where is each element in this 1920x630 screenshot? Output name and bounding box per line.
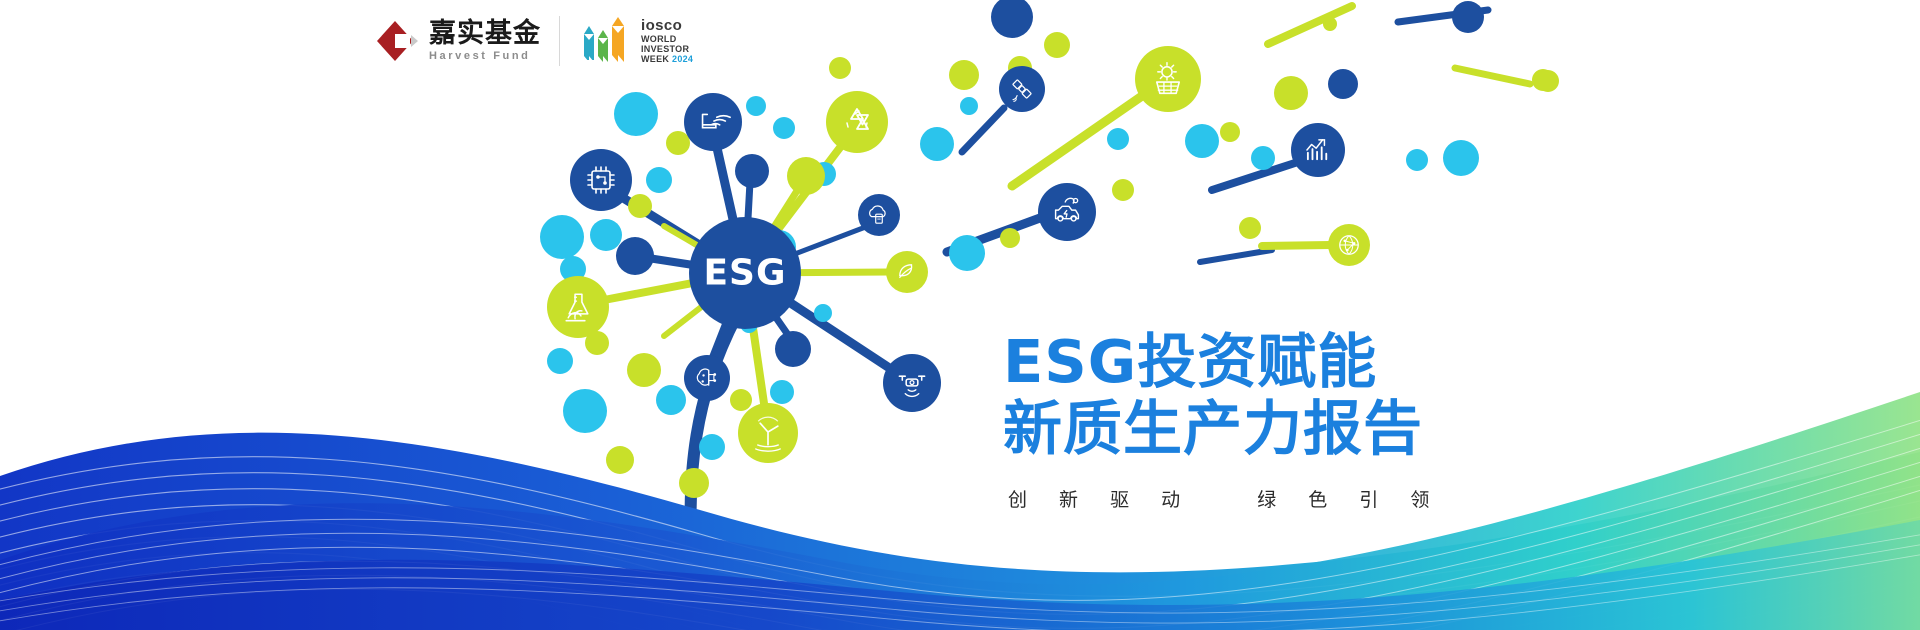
subtitle-right: 绿 色 引 领 xyxy=(1257,489,1442,511)
esg-center-label: ESG xyxy=(703,253,786,294)
headline-line-2: 新质生产力报告 xyxy=(1003,395,1423,462)
subtitle: 创 新 驱 动 绿 色 引 领 xyxy=(1008,485,1442,512)
esg-report-banner: ESG xyxy=(0,0,1920,630)
headline-line-1: ESG投资赋能 xyxy=(1003,328,1423,395)
iosco-year: 2024 xyxy=(672,54,693,64)
iosco-pencils-icon xyxy=(578,16,634,66)
harvest-diamond-mark xyxy=(375,19,419,63)
harvest-en-name: Harvest Fund xyxy=(429,51,541,62)
icon-node-network-globe[interactable] xyxy=(1328,224,1370,266)
iosco-line1: WORLD xyxy=(641,34,693,44)
icon-node-leaf-sprout[interactable] xyxy=(886,251,928,293)
icon-node-recycle[interactable] xyxy=(826,91,888,153)
iosco-world-investor-week-logo[interactable]: iosco WORLD INVESTOR WEEK 2024 xyxy=(578,16,693,66)
logo-row: 嘉实基金 Harvest Fund iosco WORLD INVESTOR xyxy=(375,16,693,66)
iosco-line3: WEEK xyxy=(641,54,669,64)
icon-node-flask-plant[interactable] xyxy=(547,276,609,338)
subtitle-left: 创 新 驱 动 xyxy=(1008,489,1193,511)
iosco-line3-wrap: WEEK 2024 xyxy=(641,54,693,64)
icon-node-growth-chart[interactable] xyxy=(1291,123,1345,177)
icon-node-solar-panel[interactable] xyxy=(1135,46,1201,112)
harvest-cn-name: 嘉实基金 xyxy=(429,20,541,47)
icon-node-wifi-router[interactable] xyxy=(684,93,742,151)
esg-center-node[interactable]: ESG xyxy=(689,217,801,329)
headline: ESG投资赋能 新质生产力报告 xyxy=(1003,328,1423,463)
iosco-org-name: iosco xyxy=(641,18,693,33)
iosco-wordmark: iosco WORLD INVESTOR WEEK 2024 xyxy=(641,18,693,66)
icon-node-electric-car[interactable] xyxy=(1038,183,1096,241)
decorative-wave-bands xyxy=(0,330,1920,630)
icon-node-satellite[interactable] xyxy=(999,66,1045,112)
logo-divider xyxy=(559,16,560,66)
iosco-line2: INVESTOR xyxy=(641,44,693,54)
harvest-fund-logo[interactable]: 嘉实基金 Harvest Fund xyxy=(375,19,541,63)
icon-node-circuit-chip[interactable] xyxy=(570,149,632,211)
icon-node-cloud-data[interactable] xyxy=(858,194,900,236)
